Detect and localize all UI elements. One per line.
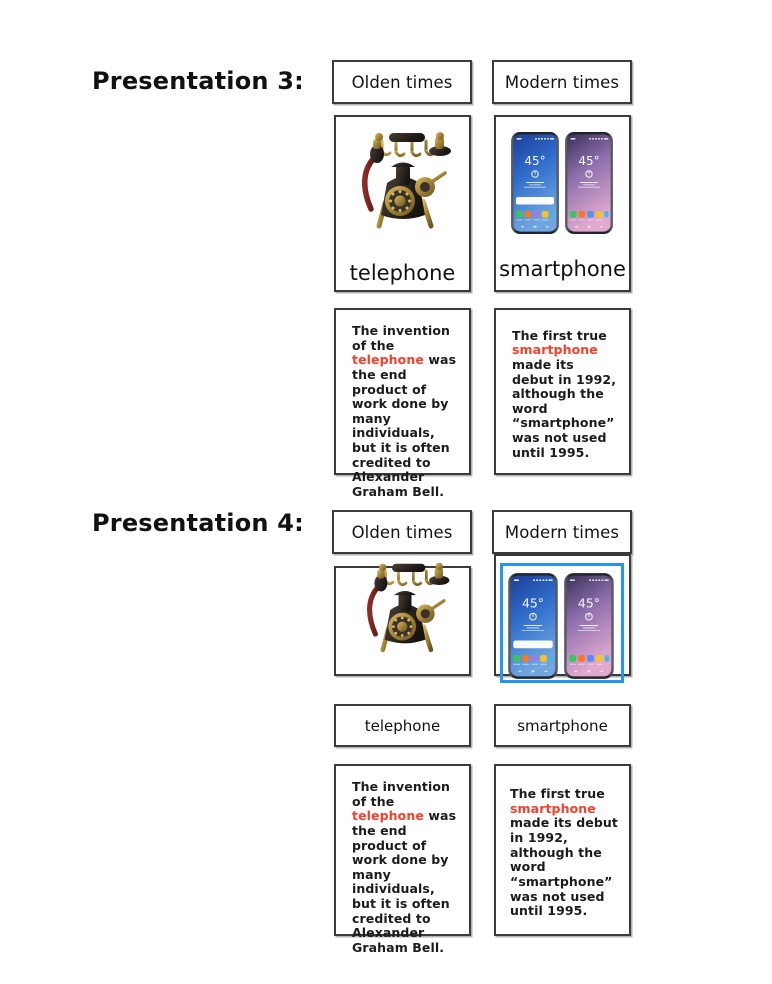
p4-smartphone-body: The first true smartphone made its debut…	[510, 787, 621, 919]
highlighted-term: telephone	[352, 352, 424, 367]
p3-telephone-text-card[interactable]: The invention of the telephone was the e…	[334, 308, 471, 475]
p3-modern-times-header[interactable]: Modern times	[492, 60, 632, 104]
presentation-3-title: Presentation 3:	[92, 67, 304, 95]
p3-smartphone-body: The first true smartphone made its debut…	[512, 329, 617, 461]
highlighted-term: smartphone	[510, 801, 596, 816]
p3-olden-times-header-label: Olden times	[352, 73, 453, 92]
antique-telephone-icon	[355, 558, 455, 662]
p4-telephone-body: The invention of the telephone was the e…	[352, 780, 457, 956]
p3-olden-times-header[interactable]: Olden times	[332, 60, 472, 104]
p3-smartphone-picture-card[interactable]: 45°	[494, 115, 631, 292]
highlighted-term: telephone	[352, 808, 424, 823]
p3-smartphone-caption: smartphone	[496, 257, 629, 281]
p4-olden-times-header[interactable]: Olden times	[332, 510, 472, 554]
highlighted-term: smartphone	[512, 342, 598, 357]
two-smartphones-icon: 45°	[505, 570, 619, 682]
p4-telephone-label: telephone	[365, 717, 440, 735]
p3-smartphone-text-card[interactable]: The first true smartphone made its debut…	[494, 308, 631, 475]
p3-modern-times-header-label: Modern times	[505, 73, 619, 92]
p4-olden-times-header-label: Olden times	[352, 523, 453, 542]
svg-text:45°: 45°	[578, 154, 599, 168]
svg-text:45°: 45°	[524, 154, 545, 168]
p3-telephone-caption: telephone	[336, 261, 469, 285]
svg-text:45°: 45°	[522, 595, 544, 610]
p4-smartphone-label-card[interactable]: smartphone	[494, 704, 631, 747]
p4-smartphone-label: smartphone	[517, 717, 608, 735]
svg-text:45°: 45°	[578, 595, 600, 610]
antique-telephone-icon	[349, 127, 457, 239]
presentation-4-title: Presentation 4:	[92, 509, 304, 537]
p3-telephone-body: The invention of the telephone was the e…	[352, 324, 457, 500]
p4-telephone-text-card[interactable]: The invention of the telephone was the e…	[334, 764, 471, 936]
p4-modern-times-header-label: Modern times	[505, 523, 619, 542]
p4-modern-times-header[interactable]: Modern times	[492, 510, 632, 554]
two-smartphones-icon: 45°	[508, 129, 618, 237]
p3-telephone-picture-card[interactable]: telephone	[334, 115, 471, 292]
p4-telephone-label-card[interactable]: telephone	[334, 704, 471, 747]
p4-smartphone-text-card[interactable]: The first true smartphone made its debut…	[494, 764, 631, 936]
